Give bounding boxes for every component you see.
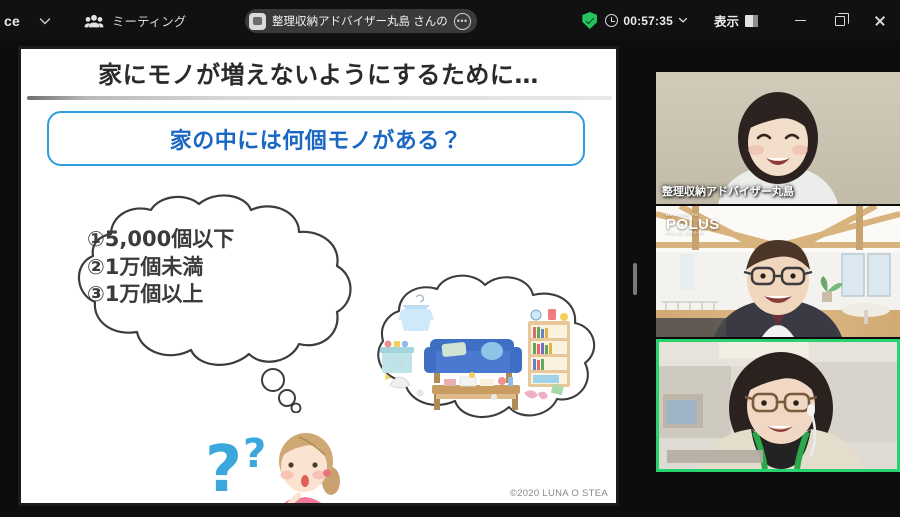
list-item: ①5,000個以下 bbox=[87, 226, 234, 254]
svg-text:?: ? bbox=[243, 431, 266, 477]
shield-check-icon[interactable] bbox=[582, 12, 597, 29]
polus-tagline: BE ALIVE TO bbox=[666, 213, 720, 217]
polus-brand-logo: BE ALIVE TO POLUS POLUS GROUP bbox=[666, 213, 720, 236]
question-mark-icon: ? ? bbox=[205, 431, 266, 506]
presentation-slide: 家にモノが増えないようにするために… 家の中には何個モノがある？ ①5,000個… bbox=[18, 46, 619, 506]
window-controls bbox=[780, 0, 900, 41]
title-bar: ce ミーティング bbox=[0, 0, 900, 41]
participant-name-label: 整理収納アドバイザー丸島 bbox=[662, 183, 794, 199]
title-divider bbox=[27, 96, 612, 100]
question-callout-box: 家の中には何個モノがある？ bbox=[47, 111, 585, 166]
close-button[interactable] bbox=[860, 0, 900, 41]
page-title: 家にモノが増えないようにするために… bbox=[21, 55, 616, 90]
close-icon bbox=[874, 15, 886, 27]
meeting-menu[interactable]: ミーティング bbox=[84, 11, 186, 30]
participant-tile-active-speaker[interactable] bbox=[656, 339, 900, 472]
drag-handle-icon[interactable] bbox=[633, 263, 637, 295]
polus-wordmark: POLUS bbox=[666, 217, 720, 232]
screen-share-indicator[interactable]: 整理収納アドバイザー丸島 さんの ••• bbox=[245, 9, 477, 33]
thought-bubble-tail bbox=[257, 367, 311, 413]
view-layout-label: 表示 bbox=[714, 11, 739, 30]
minimize-icon bbox=[795, 20, 806, 22]
clothes-hanger-icon bbox=[398, 295, 434, 331]
list-item: ②1万個未満 bbox=[87, 254, 234, 282]
thinking-woman-illustration: ? ? bbox=[203, 421, 373, 506]
panel-splitter[interactable] bbox=[630, 41, 640, 517]
meeting-timer[interactable]: 00:57:35 bbox=[605, 12, 688, 30]
restore-button[interactable] bbox=[820, 0, 860, 41]
chevron-down-icon[interactable] bbox=[32, 8, 58, 34]
cluttered-living-room-illustration bbox=[376, 289, 576, 419]
meeting-timer-value: 00:57:35 bbox=[623, 14, 673, 28]
clock-icon bbox=[605, 14, 618, 27]
layout-grid-icon bbox=[745, 15, 758, 27]
title-bar-right: 00:57:35 表示 bbox=[582, 0, 900, 41]
list-item: ③1万個以上 bbox=[87, 281, 234, 309]
participant-tile[interactable]: BE ALIVE TO POLUS POLUS GROUP bbox=[656, 206, 900, 337]
more-options-icon[interactable]: ••• bbox=[454, 13, 471, 30]
chevron-down-icon[interactable] bbox=[678, 12, 688, 30]
question-callout-text: 家の中には何個モノがある？ bbox=[170, 123, 463, 155]
minimize-button[interactable] bbox=[780, 0, 820, 41]
copyright-notice: ©2020 LUNA O STEA bbox=[510, 488, 608, 499]
title-bar-left: ce ミーティング bbox=[0, 8, 186, 34]
svg-text:?: ? bbox=[205, 433, 242, 506]
people-group-icon bbox=[84, 12, 104, 30]
screen-share-thumbnail-icon bbox=[249, 13, 266, 30]
restore-window-icon bbox=[835, 16, 845, 26]
participants-video-panel: 整理収納アドバイザー丸島 bbox=[640, 41, 900, 517]
meeting-menu-label: ミーティング bbox=[112, 11, 186, 30]
thought-bubble: ①5,000個以下 ②1万個未満 ③1万個以上 bbox=[49, 194, 369, 369]
polus-subtext: POLUS GROUP bbox=[666, 232, 720, 236]
bookshelf-icon bbox=[528, 309, 570, 387]
participant-video-woman-glasses bbox=[659, 342, 897, 469]
screen-share-label: 整理収納アドバイザー丸島 さんの bbox=[272, 13, 448, 29]
toy-box-icon bbox=[380, 341, 414, 381]
app-name-label: ce bbox=[4, 13, 20, 29]
participant-tile[interactable]: 整理収納アドバイザー丸島 bbox=[656, 72, 900, 204]
options-list: ①5,000個以下 ②1万個未満 ③1万個以上 bbox=[87, 226, 234, 309]
view-layout-button[interactable]: 表示 bbox=[714, 11, 758, 30]
woman-figure bbox=[275, 433, 340, 506]
shared-screen-stage[interactable]: 家にモノが増えないようにするために… 家の中には何個モノがある？ ①5,000個… bbox=[0, 41, 634, 517]
meeting-window: ce ミーティング bbox=[0, 0, 900, 517]
